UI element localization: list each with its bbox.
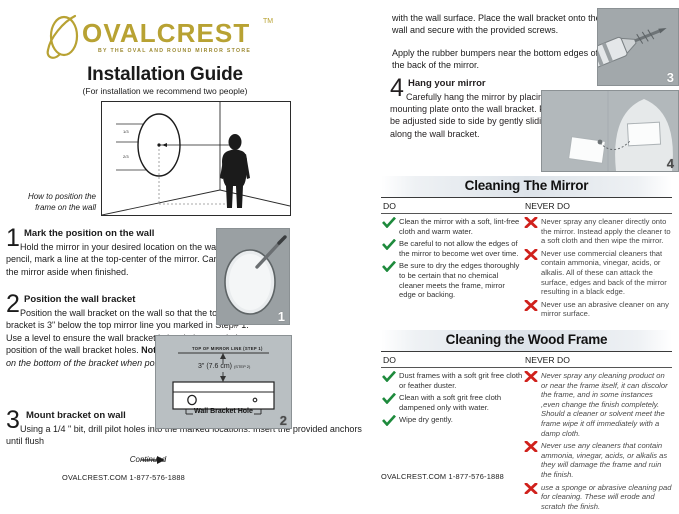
section-mirror-never-heading: NEVER DO [523, 198, 672, 214]
section-mirror-columns: DO Clean the mirror with a soft, lint-fr… [381, 198, 672, 322]
green-check-icon [382, 393, 396, 404]
left-column: OVALCREST TM BY THE OVAL AND ROUND MIRRO… [0, 0, 372, 489]
photo-2-number: 2 [280, 413, 287, 428]
right-intro-paragraph-2: Apply the rubber bumpers near the bottom… [392, 47, 604, 71]
list-item-text: Never spray any cleaning product on or n… [541, 371, 668, 438]
list-item-text: Clean the mirror with a soft, lint-free … [399, 217, 519, 236]
section-mirror-do-heading: DO [381, 198, 523, 214]
right-column: with the wall surface. Place the wall br… [372, 0, 679, 489]
list-item-text: Never use an abrasive cleaner on any mir… [541, 300, 669, 319]
list-item-text: Clean with a soft grit free cloth dampen… [399, 393, 501, 412]
brand-wordmark: OVALCREST [82, 20, 250, 46]
section-cleaning-the-mirror: Cleaning The Mirror DO Clean the mirror … [381, 176, 672, 322]
section-frame-do-column: DO Dust frames with a soft grit free clo… [381, 352, 523, 514]
list-item-text: Never use any cleaners that contain ammo… [541, 441, 667, 479]
list-item: Clean with a soft grit free cloth dampen… [381, 393, 523, 412]
step-3-heading: Mount bracket on wall [26, 410, 126, 421]
list-item-text: Dust frames with a soft grit free cloth … [399, 371, 522, 390]
page-subtitle: (For installation we recommend two peopl… [0, 86, 330, 96]
list-item: Be careful to not allow the edges of the… [381, 239, 523, 258]
section-frame-do-heading: DO [381, 352, 523, 368]
trademark-symbol: TM [263, 18, 273, 25]
bracket-dimension-note: (STEP 2) [234, 364, 250, 369]
photo-3-number: 3 [667, 70, 674, 85]
photo-bracket-diagram: TOP OF MIRROR LINE (STEP 1) 3" (7.6 cm) … [155, 335, 292, 429]
section-mirror-band: Cleaning The Mirror [381, 176, 672, 198]
illustration-caption: How to position the frame on the wall [4, 191, 96, 213]
illustration-caption-line2: frame on the wall [35, 203, 96, 212]
right-intro-paragraph-1: with the wall surface. Place the wall br… [392, 12, 604, 36]
green-check-icon [382, 415, 396, 426]
page-title: Installation Guide [0, 64, 330, 86]
section-mirror-title: Cleaning The Mirror [381, 178, 672, 193]
svg-text:1/3: 1/3 [123, 129, 129, 134]
section-frame-columns: DO Dust frames with a soft grit free clo… [381, 352, 672, 514]
list-item: Wipe dry gently. [381, 415, 523, 425]
section-mirror-never-column: NEVER DO Never spray any cleaner directl… [523, 198, 672, 322]
photo-hang-mirror-plate: 4 [541, 90, 679, 172]
bracket-top-line-label: TOP OF MIRROR LINE (STEP 1) [192, 346, 263, 351]
red-cross-icon [524, 249, 538, 260]
list-item-text: Be careful to not allow the edges of the… [399, 239, 518, 258]
list-item: Be sure to dry the edges thoroughly to b… [381, 261, 523, 299]
footer-right: OVALCREST.COM 1-877-576-1888 [381, 472, 504, 481]
section-frame-never-column: NEVER DO Never spray any cleaning produc… [523, 352, 672, 514]
list-item-text: Never spray any cleaner directly onto th… [541, 217, 671, 245]
svg-text:2/3: 2/3 [123, 154, 129, 159]
bracket-dimension-value: 3" (7.6 cm) [198, 363, 232, 370]
list-item: use a sponge or abrasive cleaning pad fo… [523, 483, 672, 512]
list-item: Never use any cleaners that contain ammo… [523, 441, 672, 479]
red-cross-icon [524, 217, 538, 228]
room-perspective-illustration: 1/3 2/3 [101, 101, 291, 216]
brand-logo: OVALCREST TM BY THE OVAL AND ROUND MIRRO… [38, 14, 278, 56]
section-frame-never-heading: NEVER DO [523, 352, 672, 368]
list-item: Dust frames with a soft grit free cloth … [381, 371, 523, 390]
green-check-icon [382, 371, 396, 382]
section-mirror-do-column: DO Clean the mirror with a soft, lint-fr… [381, 198, 523, 322]
red-cross-icon [524, 300, 538, 311]
photo-4-number: 4 [667, 156, 674, 171]
list-item: Never use commercial cleaners that conta… [523, 249, 672, 297]
list-item: Clean the mirror with a soft, lint-free … [381, 217, 523, 236]
step-1-heading: Mark the position on the wall [24, 228, 154, 239]
photo-mirror-with-pencil: 1 [216, 228, 290, 325]
right-arrow-icon [140, 455, 166, 465]
list-item: Never use an abrasive cleaner on any mir… [523, 300, 672, 319]
list-item-text: Be sure to dry the edges thoroughly to b… [399, 261, 519, 299]
list-item-text: Never use commercial cleaners that conta… [541, 249, 667, 296]
red-cross-icon [524, 483, 538, 494]
red-cross-icon [524, 441, 538, 452]
step-4-heading: Hang your mirror [408, 78, 486, 89]
bracket-hole-label: Wall Bracket Hole [194, 408, 253, 415]
photo-1-number: 1 [278, 309, 285, 324]
list-item: Never spray any cleaner directly onto th… [523, 217, 672, 246]
green-check-icon [382, 239, 396, 250]
list-item-text: Wipe dry gently. [399, 415, 453, 424]
section-frame-band: Cleaning the Wood Frame [381, 330, 672, 352]
section-cleaning-the-wood-frame: Cleaning the Wood Frame DO Dust frames w… [381, 330, 672, 514]
installation-guide-page: OVALCREST TM BY THE OVAL AND ROUND MIRRO… [0, 0, 679, 489]
brand-tagline: BY THE OVAL AND ROUND MIRROR STORE [98, 48, 251, 54]
section-frame-title: Cleaning the Wood Frame [381, 332, 672, 347]
illustration-caption-line1: How to position the [28, 192, 96, 201]
bracket-dimension: 3" (7.6 cm) (STEP 2) [198, 363, 250, 370]
green-check-icon [382, 261, 396, 272]
step-2-heading: Position the wall bracket [24, 294, 135, 305]
list-item-text: use a sponge or abrasive cleaning pad fo… [541, 483, 671, 511]
red-cross-icon [524, 371, 538, 382]
footer-left: OVALCREST.COM 1-877-576-1888 [62, 473, 185, 482]
list-item: Never spray any cleaning product on or n… [523, 371, 672, 438]
green-check-icon [382, 217, 396, 228]
photo-drill-screw: 3 [597, 8, 679, 86]
